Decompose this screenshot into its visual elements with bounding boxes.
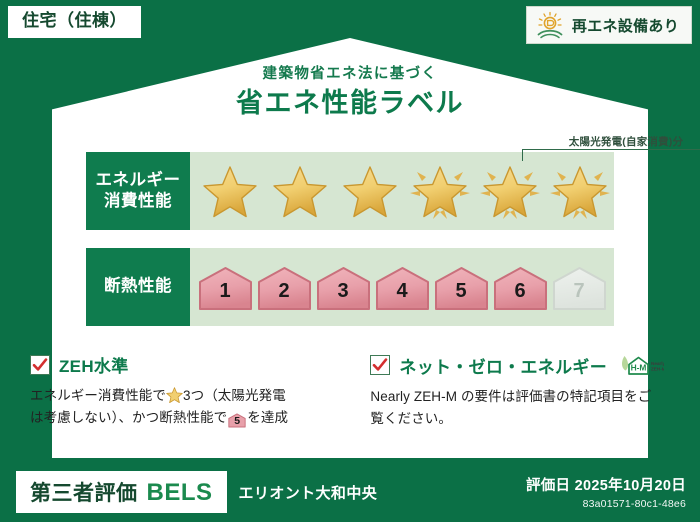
insulation-grade-2: 2 xyxy=(256,262,313,312)
energy-performance-stars-area: 太陽光発電(自家消費)分 xyxy=(190,152,614,230)
insulation-grade-5-value: 5 xyxy=(455,280,466,312)
footer-bar: 第三者評価 BELS エリオント大和中央 評価日 2025年10月20日 83a… xyxy=(0,462,700,522)
nearly-zeh-m-logo-icon: H-M Nearly ZEH-M xyxy=(620,352,664,378)
insulation-grade-1-value: 1 xyxy=(219,280,230,312)
net-zero-check-icon xyxy=(370,355,390,375)
bels-certification-badge: 第三者評価 BELS xyxy=(16,471,227,513)
star-icon-1 xyxy=(196,159,264,223)
zeh-standard-header: ZEH水準 xyxy=(30,352,338,377)
energy-performance-row: エネルギー 消費性能 太陽光発電(自家消費)分 xyxy=(86,152,614,230)
insulation-grade-5: 5 xyxy=(433,262,490,312)
star-icon-solar-6 xyxy=(546,159,614,223)
label-title-block: 建築物省エネ法に基づく 省エネ性能ラベル xyxy=(0,66,700,120)
zeh-desc-suffix: を達成 xyxy=(247,410,288,425)
zeh-standard-description: エネルギー消費性能で3つ（太陽光発電は考慮しない）、かつ断熱性能で5を達成 xyxy=(30,385,338,428)
svg-text:Nearly: Nearly xyxy=(651,361,664,366)
insulation-grade-group: 1 2 3 xyxy=(197,262,608,312)
zeh-check-icon xyxy=(30,355,50,375)
inline-grade-badge: 5 xyxy=(227,412,247,428)
bels-logo-text: BELS xyxy=(147,479,213,507)
zeh-standard-block: ZEH水準 エネルギー消費性能で3つ（太陽光発電は考慮しない）、かつ断熱性能で5… xyxy=(30,352,352,429)
renewable-equipment-badge: 再エネ設備あり xyxy=(526,6,692,44)
rating-rows: エネルギー 消費性能 太陽光発電(自家消費)分 xyxy=(86,152,614,326)
insulation-grade-1: 1 xyxy=(197,262,254,312)
svg-text:H-M: H-M xyxy=(631,363,647,373)
evaluation-meta: 評価日 2025年10月20日 83a01571-80c1-48e6 xyxy=(526,474,686,510)
svg-text:ZEH-M: ZEH-M xyxy=(651,367,664,372)
category-tag: 住宅（住棟） xyxy=(8,6,141,38)
insulation-grade-3-value: 3 xyxy=(337,280,348,312)
evaluation-id: 83a01571-80c1-48e6 xyxy=(526,498,686,510)
star-rating-group xyxy=(190,159,614,223)
insulation-performance-row: 断熱性能 xyxy=(86,248,614,326)
net-zero-description: Nearly ZEH-M の要件は評価書の特記項目をご覧ください。 xyxy=(370,386,664,429)
renewable-badge-label: 再エネ設備あり xyxy=(572,15,679,36)
insulation-performance-label: 断熱性能 xyxy=(86,248,190,326)
zeh-desc-stars: 3つ（太陽光発電 xyxy=(183,388,286,403)
insulation-grade-4-value: 4 xyxy=(396,280,407,312)
net-zero-energy-block: ネット・ゼロ・エネルギー H-M Nearly ZEH-M Nearly ZEH… xyxy=(352,352,678,429)
solar-sun-icon xyxy=(535,11,565,39)
zeh-desc-prefix: エネルギー消費性能で xyxy=(30,388,166,403)
energy-performance-label: エネルギー 消費性能 xyxy=(86,152,190,230)
insulation-grade-7: 7 xyxy=(551,262,608,312)
criteria-columns: ZEH水準 エネルギー消費性能で3つ（太陽光発電は考慮しない）、かつ断熱性能で5… xyxy=(30,352,678,429)
insulation-grade-7-value: 7 xyxy=(573,280,584,312)
zeh-desc-mid: は考慮しない）、かつ断熱性能で xyxy=(30,410,227,425)
insulation-grade-2-value: 2 xyxy=(278,280,289,312)
inline-star-icon xyxy=(166,387,183,403)
building-name: エリオント大和中央 xyxy=(239,482,378,503)
label-main-title: 省エネ性能ラベル xyxy=(0,87,700,119)
insulation-grade-area: 1 2 3 xyxy=(190,248,614,326)
bels-japanese-label: 第三者評価 xyxy=(30,477,138,507)
energy-label-line1: エネルギー xyxy=(96,170,181,191)
insulation-label-text: 断熱性能 xyxy=(104,276,172,297)
insulation-grade-6-value: 6 xyxy=(514,280,525,312)
star-icon-2 xyxy=(266,159,334,223)
insulation-grade-3: 3 xyxy=(315,262,372,312)
net-zero-title: ネット・ゼロ・エネルギー xyxy=(399,353,607,378)
zeh-standard-title: ZEH水準 xyxy=(59,352,129,377)
net-zero-header: ネット・ゼロ・エネルギー H-M Nearly ZEH-M xyxy=(370,352,664,378)
solar-contribution-note: 太陽光発電(自家消費)分 xyxy=(520,134,700,149)
insulation-grade-6: 6 xyxy=(492,262,549,312)
star-icon-3 xyxy=(336,159,404,223)
label-subtitle: 建築物省エネ法に基づく xyxy=(0,66,700,83)
inline-grade-value: 5 xyxy=(227,412,247,430)
energy-label-root: 住宅（住棟） 再エネ設備あり 建築物省エ xyxy=(0,0,700,522)
star-icon-solar-5 xyxy=(476,159,544,223)
evaluation-date: 評価日 2025年10月20日 xyxy=(526,474,686,495)
star-icon-solar-4 xyxy=(406,159,474,223)
energy-label-line2: 消費性能 xyxy=(104,191,172,212)
insulation-grade-4: 4 xyxy=(374,262,431,312)
